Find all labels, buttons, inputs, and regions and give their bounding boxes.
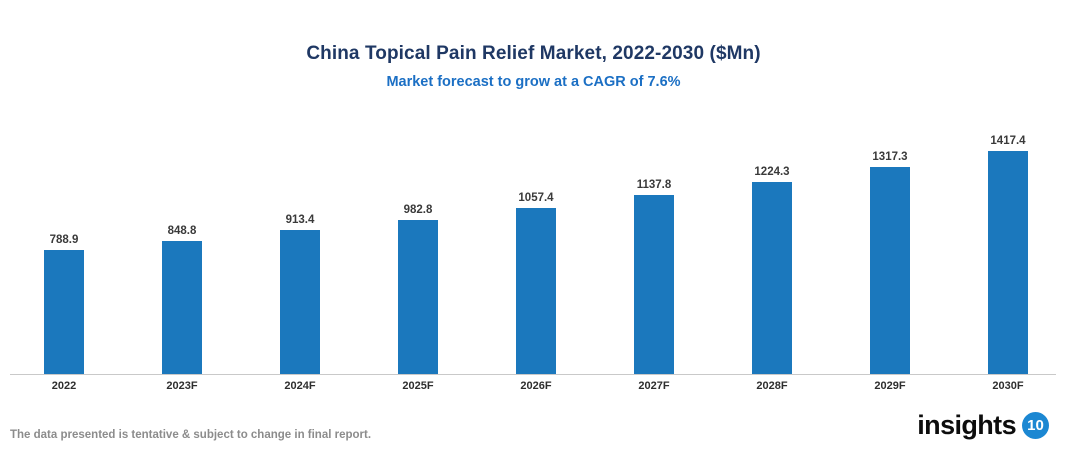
- bar-group: 848.82023F: [123, 0, 241, 454]
- x-tick-label: 2027F: [595, 379, 713, 393]
- x-tick-label: 2025F: [359, 379, 477, 393]
- bar-series: 788.92022848.82023F913.42024F982.82025F1…: [0, 0, 1067, 454]
- bar-2022[interactable]: [44, 250, 84, 374]
- bar-value-label: 913.4: [241, 213, 359, 227]
- bar-value-label: 982.8: [359, 203, 477, 217]
- insights10-logo: insights 10: [917, 409, 1049, 441]
- x-tick-label: 2024F: [241, 379, 359, 393]
- logo-badge-icon: 10: [1022, 412, 1049, 439]
- disclaimer-text: The data presented is tentative & subjec…: [10, 428, 371, 443]
- bar-value-label: 1417.4: [949, 134, 1067, 148]
- x-tick-label: 2028F: [713, 379, 831, 393]
- chart-container: China Topical Pain Relief Market, 2022-2…: [0, 0, 1067, 454]
- bar-value-label: 848.8: [123, 224, 241, 238]
- bar-2029F[interactable]: [870, 167, 910, 374]
- bar-group: 1137.82027F: [595, 0, 713, 454]
- x-tick-label: 2026F: [477, 379, 595, 393]
- plot-area: 788.92022848.82023F913.42024F982.82025F1…: [0, 0, 1067, 454]
- bar-group: 1317.32029F: [831, 0, 949, 454]
- bar-group: 1417.42030F: [949, 0, 1067, 454]
- logo-wordmark: insights: [917, 410, 1016, 440]
- bar-2025F[interactable]: [398, 220, 438, 374]
- bar-2027F[interactable]: [634, 195, 674, 374]
- bar-group: 913.42024F: [241, 0, 359, 454]
- bar-value-label: 1317.3: [831, 150, 949, 164]
- bar-group: 788.92022: [5, 0, 123, 454]
- bar-value-label: 1224.3: [713, 165, 831, 179]
- bar-value-label: 1057.4: [477, 191, 595, 205]
- bar-2023F[interactable]: [162, 241, 202, 374]
- bar-value-label: 788.9: [5, 233, 123, 247]
- bar-2028F[interactable]: [752, 182, 792, 374]
- bar-2030F[interactable]: [988, 151, 1028, 374]
- bar-group: 982.82025F: [359, 0, 477, 454]
- x-tick-label: 2022: [5, 379, 123, 393]
- x-tick-label: 2023F: [123, 379, 241, 393]
- x-tick-label: 2030F: [949, 379, 1067, 393]
- bar-value-label: 1137.8: [595, 178, 713, 192]
- x-tick-label: 2029F: [831, 379, 949, 393]
- bar-2024F[interactable]: [280, 230, 320, 374]
- bar-group: 1224.32028F: [713, 0, 831, 454]
- bar-group: 1057.42026F: [477, 0, 595, 454]
- bar-2026F[interactable]: [516, 208, 556, 374]
